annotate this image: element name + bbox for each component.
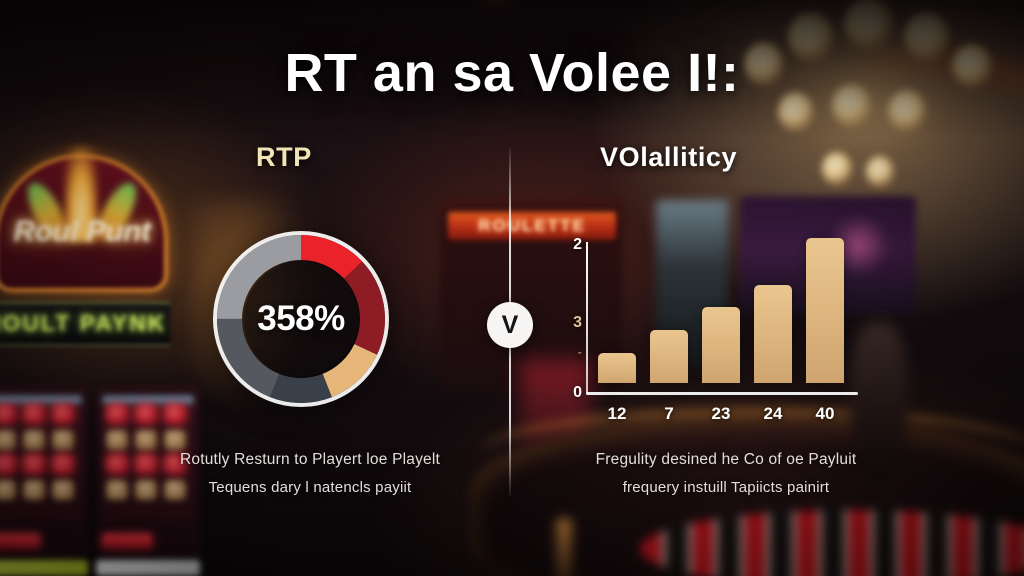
- volatility-bar-chart: 2 3 - 0 127232440: [560, 236, 860, 401]
- bar: [702, 307, 740, 383]
- infographic-content: RT an sa Volee I!: RTP VOlalliticy V 358…: [0, 0, 1024, 576]
- rtp-value-label: 358%: [211, 229, 391, 409]
- page-title: RT an sa Volee I!:: [0, 42, 1024, 104]
- bar: [598, 353, 636, 383]
- y-axis-tick: 2: [560, 236, 582, 254]
- rtp-caption-line-1: Rotutly Resturn to Playert loe Playelt: [180, 451, 440, 468]
- y-axis-tick: -: [560, 344, 582, 359]
- volatility-panel-title: VOlalliticy: [600, 142, 737, 173]
- x-axis-tick-label: 12: [594, 404, 640, 424]
- x-axis-tick-label: 40: [802, 404, 848, 424]
- bar: [650, 330, 688, 383]
- x-axis-tick-label: 7: [646, 404, 692, 424]
- bar: [754, 285, 792, 383]
- rtp-caption-line-2: Tequens dary l natencls payiit: [160, 474, 460, 502]
- bar: [806, 238, 844, 383]
- rtp-donut-chart: 358%: [211, 229, 391, 409]
- infographic-canvas: Roul Punt ROULT PAYNK: [0, 0, 1024, 576]
- volatility-caption-line-1: Fregulity desined he Co of oe Payluit: [596, 451, 857, 468]
- x-axis-tick-label: 23: [698, 404, 744, 424]
- x-axis: [586, 392, 858, 395]
- rtp-panel-title: RTP: [256, 142, 312, 173]
- volatility-caption-line-2: frequery instuill Tapiicts painirt: [576, 474, 876, 502]
- y-axis: [586, 242, 588, 394]
- y-axis-tick: 0: [560, 384, 582, 402]
- rtp-caption: Rotutly Resturn to Playert loe Playelt T…: [160, 446, 460, 502]
- y-axis-tick: 3: [560, 314, 582, 332]
- volatility-caption: Fregulity desined he Co of oe Payluit fr…: [576, 446, 876, 502]
- x-axis-tick-label: 24: [750, 404, 796, 424]
- center-v-badge: V: [487, 302, 533, 348]
